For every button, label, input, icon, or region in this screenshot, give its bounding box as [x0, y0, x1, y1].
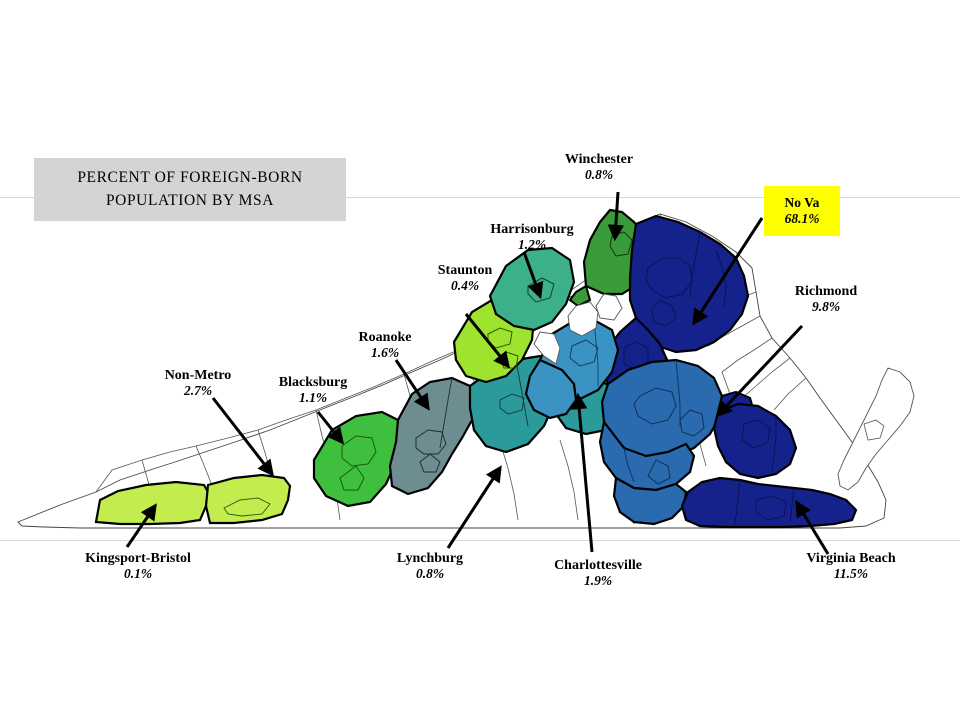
chart-title-line-2: POPULATION BY MSA: [106, 192, 274, 210]
slide-canvas: PERCENT OF FOREIGN-BORN POPULATION BY MS…: [0, 0, 960, 720]
virginia-choropleth-map: [0, 0, 960, 720]
nova-callout-box[interactable]: No Va 68.1%: [764, 186, 840, 236]
nova-callout-value: 68.1%: [785, 211, 820, 227]
chart-title-box: PERCENT OF FOREIGN-BORN POPULATION BY MS…: [34, 158, 346, 221]
chart-title-line-1: PERCENT OF FOREIGN-BORN: [77, 169, 302, 187]
nova-callout-name: No Va: [785, 195, 820, 211]
map-eastern-shore: [838, 368, 914, 490]
